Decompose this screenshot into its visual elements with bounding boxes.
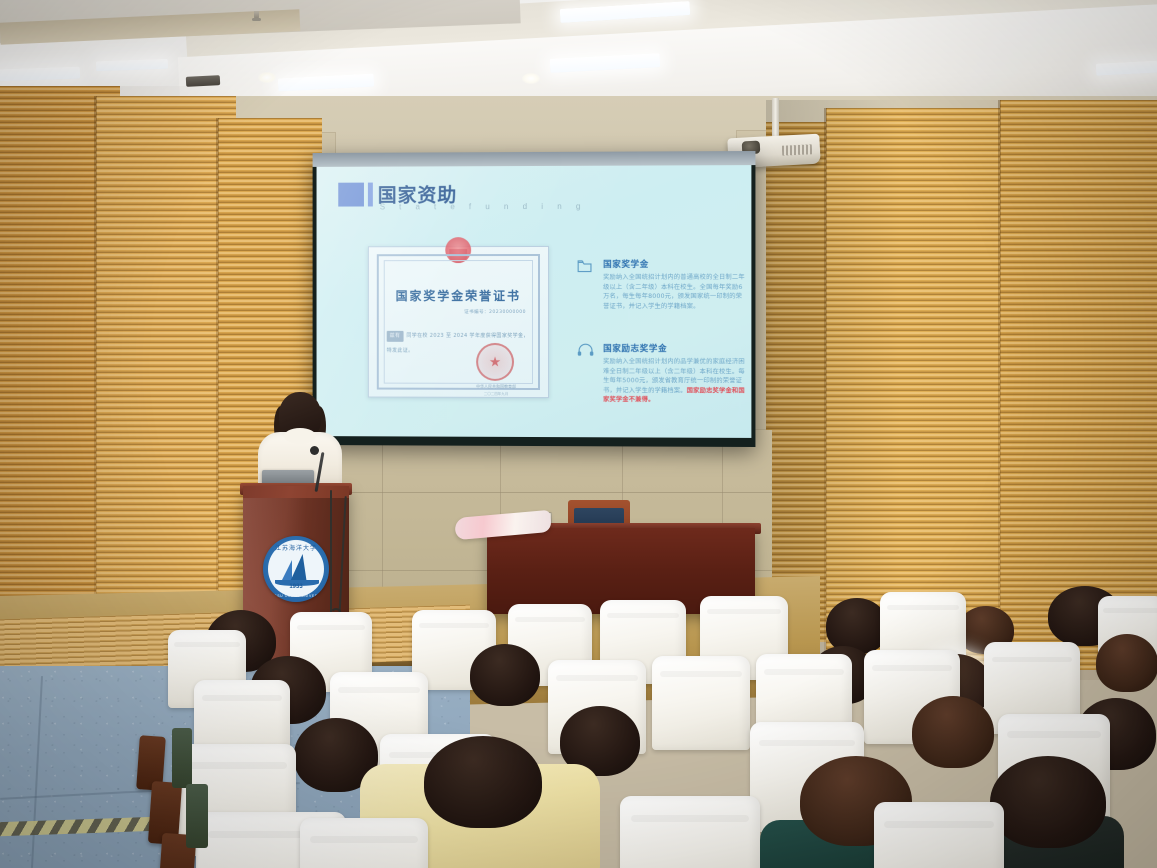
certificate-seal-org: 中华人民共和国教育部: [472, 384, 520, 390]
projector-vent: [782, 144, 812, 156]
audience-head: [826, 598, 888, 654]
audience-chair-cover: [620, 796, 760, 868]
certificate-seal-date: 二〇二四年九月: [472, 392, 520, 397]
projector-mount-rod: [772, 98, 779, 138]
info-heading: 国家励志奖学金: [603, 342, 667, 354]
certificate-border: [377, 254, 540, 390]
certificate-name-chip: 兹有: [387, 331, 404, 342]
ceiling-speaker-icon: [186, 75, 220, 87]
presenter-collar: [284, 428, 316, 444]
audience-head: [470, 644, 540, 706]
microphone-icon: [310, 446, 319, 455]
info-body: 奖励纳入全国统招计划内的品学兼优的家庭经济困难全日制二年级以上（含二年级）本科在…: [603, 357, 746, 406]
audience-chair-cover: [300, 818, 428, 868]
presentation-slide: 国家资助 S t a t e f u n d i n g 国家奖学金荣誉证书 证…: [317, 165, 752, 438]
audience-head: [1096, 634, 1157, 692]
certificate-title: 国家奖学金荣誉证书: [369, 287, 548, 304]
ceiling-downlight: [522, 73, 540, 84]
slide-title-accent-icon: [338, 183, 364, 207]
emblem-institution-cn: 江苏海洋大学: [263, 543, 329, 552]
lecture-hall-photo: 国家资助 S t a t e f u n d i n g 国家奖学金荣誉证书 证…: [0, 0, 1157, 868]
info-heading: 国家奖学金: [603, 258, 649, 270]
sprinkler-head-icon: [254, 11, 259, 20]
audience-head-near: [424, 736, 542, 828]
certificate-number: 证书编号：20230000000: [464, 309, 526, 315]
projection-screen: 国家资助 S t a t e f u n d i n g 国家奖学金荣誉证书 证…: [313, 151, 756, 447]
slide-subtitle: S t a t e f u n d i n g: [380, 202, 587, 212]
info-body: 奖励纳入全国统招计划内的普通高校的全日制二年级以上（含二年级）本科在校生。全国每…: [603, 273, 746, 312]
audience-chair-cover: [652, 656, 750, 750]
audience-area: [0, 568, 1157, 868]
headphones-icon: [577, 343, 592, 357]
audience-chair-cover: [874, 802, 1004, 868]
audience-head-near: [990, 756, 1106, 848]
seat-frame: [172, 728, 192, 788]
certificate-image: 国家奖学金荣誉证书 证书编号：20230000000 兹有同学在校 2023 至…: [368, 246, 549, 398]
seat-frame: [186, 784, 208, 848]
certificate-body-line1: 同学在校 2023 至 2024 学年度获得国家奖学金，: [406, 333, 528, 339]
ceiling-downlight: [258, 72, 276, 83]
official-seal-icon: [476, 343, 514, 381]
folder-icon: [577, 259, 592, 273]
audience-head: [912, 696, 994, 768]
